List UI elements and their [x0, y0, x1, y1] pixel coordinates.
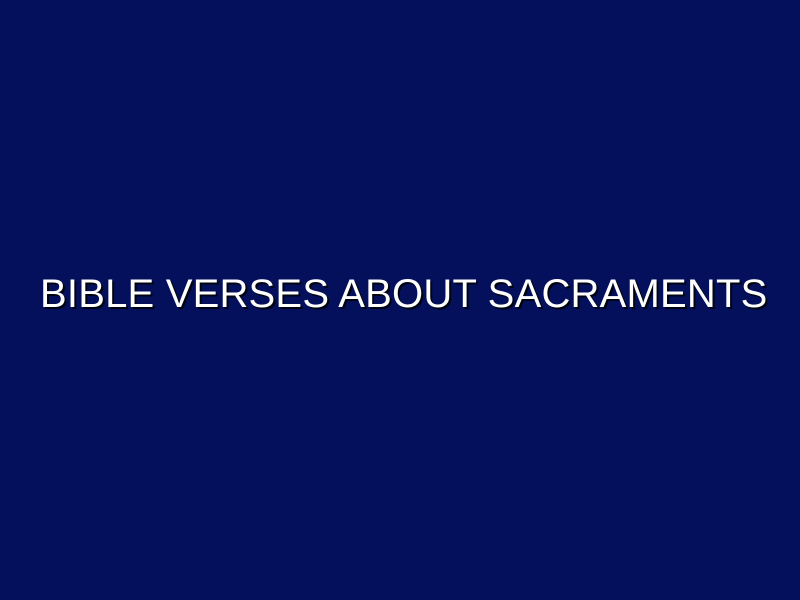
title-block: BIBLE VERSES ABOUT SACRAMENTS: [0, 271, 800, 317]
title-slide: BIBLE VERSES ABOUT SACRAMENTS: [0, 0, 800, 600]
page-title: BIBLE VERSES ABOUT SACRAMENTS: [40, 271, 768, 317]
